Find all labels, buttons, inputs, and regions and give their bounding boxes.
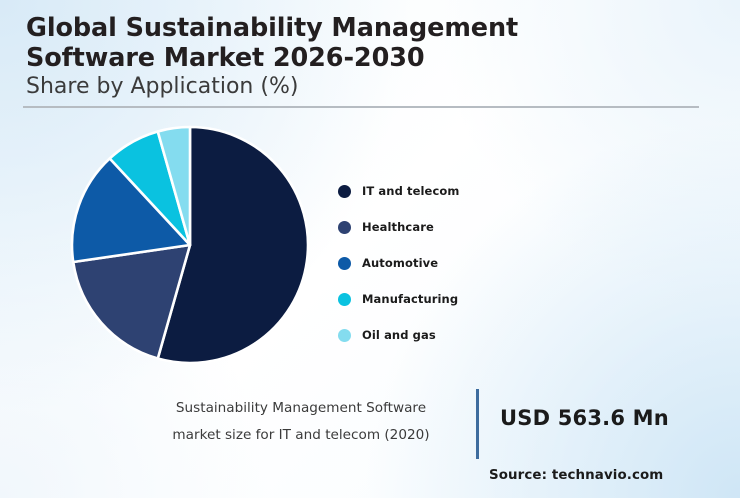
page-title: Global Sustainability Management Softwar… [26, 14, 698, 73]
legend-item[interactable]: Automotive [338, 245, 558, 281]
legend-item-label: Healthcare [362, 220, 434, 234]
legend-swatch-icon [338, 329, 351, 342]
legend-swatch-icon [338, 185, 351, 198]
legend-item[interactable]: Oil and gas [338, 317, 558, 353]
stat-value: USD 563.6 Mn [500, 406, 669, 430]
chart-canvas: Global Sustainability Management Softwar… [0, 0, 740, 498]
legend-swatch-icon [338, 221, 351, 234]
pie-chart [70, 125, 310, 365]
legend-item-label: IT and telecom [362, 184, 459, 198]
footer-stat: Sustainability Management Software marke… [140, 395, 700, 455]
chart-header: Global Sustainability Management Softwar… [26, 14, 698, 101]
legend-swatch-icon [338, 293, 351, 306]
legend-item-label: Automotive [362, 256, 438, 270]
legend-item-label: Manufacturing [362, 292, 458, 306]
legend-swatch-icon [338, 257, 351, 270]
legend-item-label: Oil and gas [362, 328, 436, 342]
source-label: Source: technavio.com [489, 468, 663, 483]
chart-subtitle: Share by Application (%) [26, 74, 698, 101]
stat-divider [476, 389, 479, 459]
pie-chart-svg [70, 125, 310, 365]
stat-description: Sustainability Management Software marke… [140, 395, 462, 448]
legend-item[interactable]: Manufacturing [338, 281, 558, 317]
header-divider [23, 106, 699, 108]
chart-legend: IT and telecomHealthcareAutomotiveManufa… [338, 173, 558, 353]
legend-item[interactable]: IT and telecom [338, 173, 558, 209]
legend-item[interactable]: Healthcare [338, 209, 558, 245]
